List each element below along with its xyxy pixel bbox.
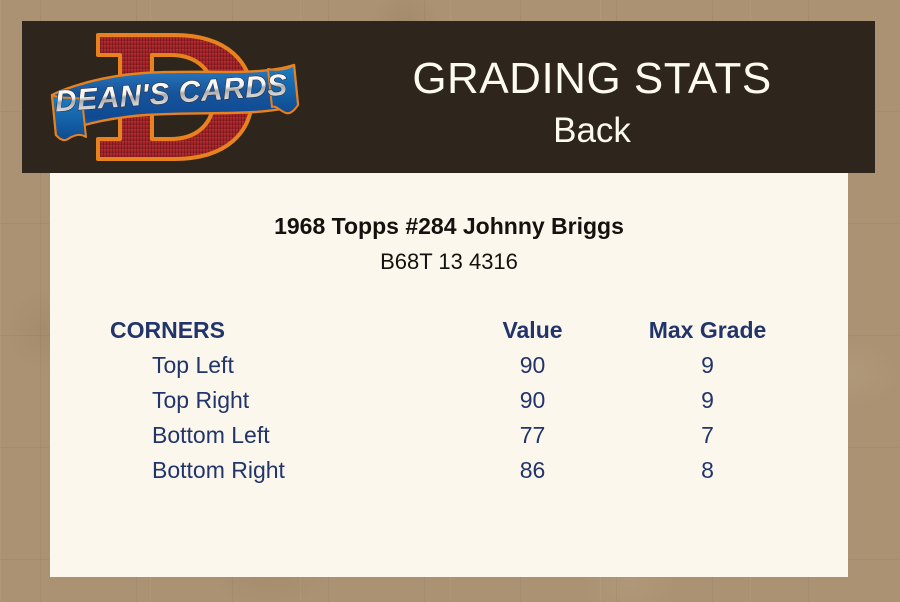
row-spacer <box>800 453 848 488</box>
logo-ribbon-banner: DEAN'S CARDS <box>52 65 298 140</box>
row-value: 90 <box>450 383 615 418</box>
column-header-max-grade: Max Grade <box>615 313 800 348</box>
deans-cards-logo-svg: DEAN'S CARDS <box>46 21 316 173</box>
row-spacer <box>800 348 848 383</box>
row-spacer <box>800 383 848 418</box>
content-panel: 1968 Topps #284 Johnny Briggs B68T 13 43… <box>50 173 848 577</box>
column-header-value: Value <box>450 313 615 348</box>
page-title: GRADING STATS <box>322 57 862 101</box>
table-row: Bottom Left 77 7 <box>50 418 848 453</box>
table-row: Bottom Right 86 8 <box>50 453 848 488</box>
row-label: Top Right <box>50 383 450 418</box>
row-max-grade: 8 <box>615 453 800 488</box>
row-label: Bottom Left <box>50 418 450 453</box>
card-sku: B68T 13 4316 <box>50 249 848 275</box>
row-label: Top Left <box>50 348 450 383</box>
deans-cards-logo[interactable]: DEAN'S CARDS <box>46 21 316 173</box>
column-header-category: CORNERS <box>50 313 450 348</box>
row-value: 77 <box>450 418 615 453</box>
row-spacer <box>800 418 848 453</box>
stats-table-body: Top Left 90 9 Top Right 90 9 Bottom Left… <box>50 348 848 488</box>
table-header-row: CORNERS Value Max Grade <box>50 313 848 348</box>
row-value: 86 <box>450 453 615 488</box>
grading-stats-table: CORNERS Value Max Grade Top Left 90 9 To… <box>50 313 848 488</box>
row-max-grade: 7 <box>615 418 800 453</box>
card-title: 1968 Topps #284 Johnny Briggs <box>50 213 848 240</box>
page-subtitle: Back <box>322 113 862 148</box>
header-bar: DEAN'S CARDS GRADING STATS Back <box>22 21 875 173</box>
column-spacer <box>800 313 848 348</box>
row-max-grade: 9 <box>615 383 800 418</box>
row-max-grade: 9 <box>615 348 800 383</box>
row-label: Bottom Right <box>50 453 450 488</box>
row-value: 90 <box>450 348 615 383</box>
stats-table-head: CORNERS Value Max Grade <box>50 313 848 348</box>
table-row: Top Left 90 9 <box>50 348 848 383</box>
table-row: Top Right 90 9 <box>50 383 848 418</box>
